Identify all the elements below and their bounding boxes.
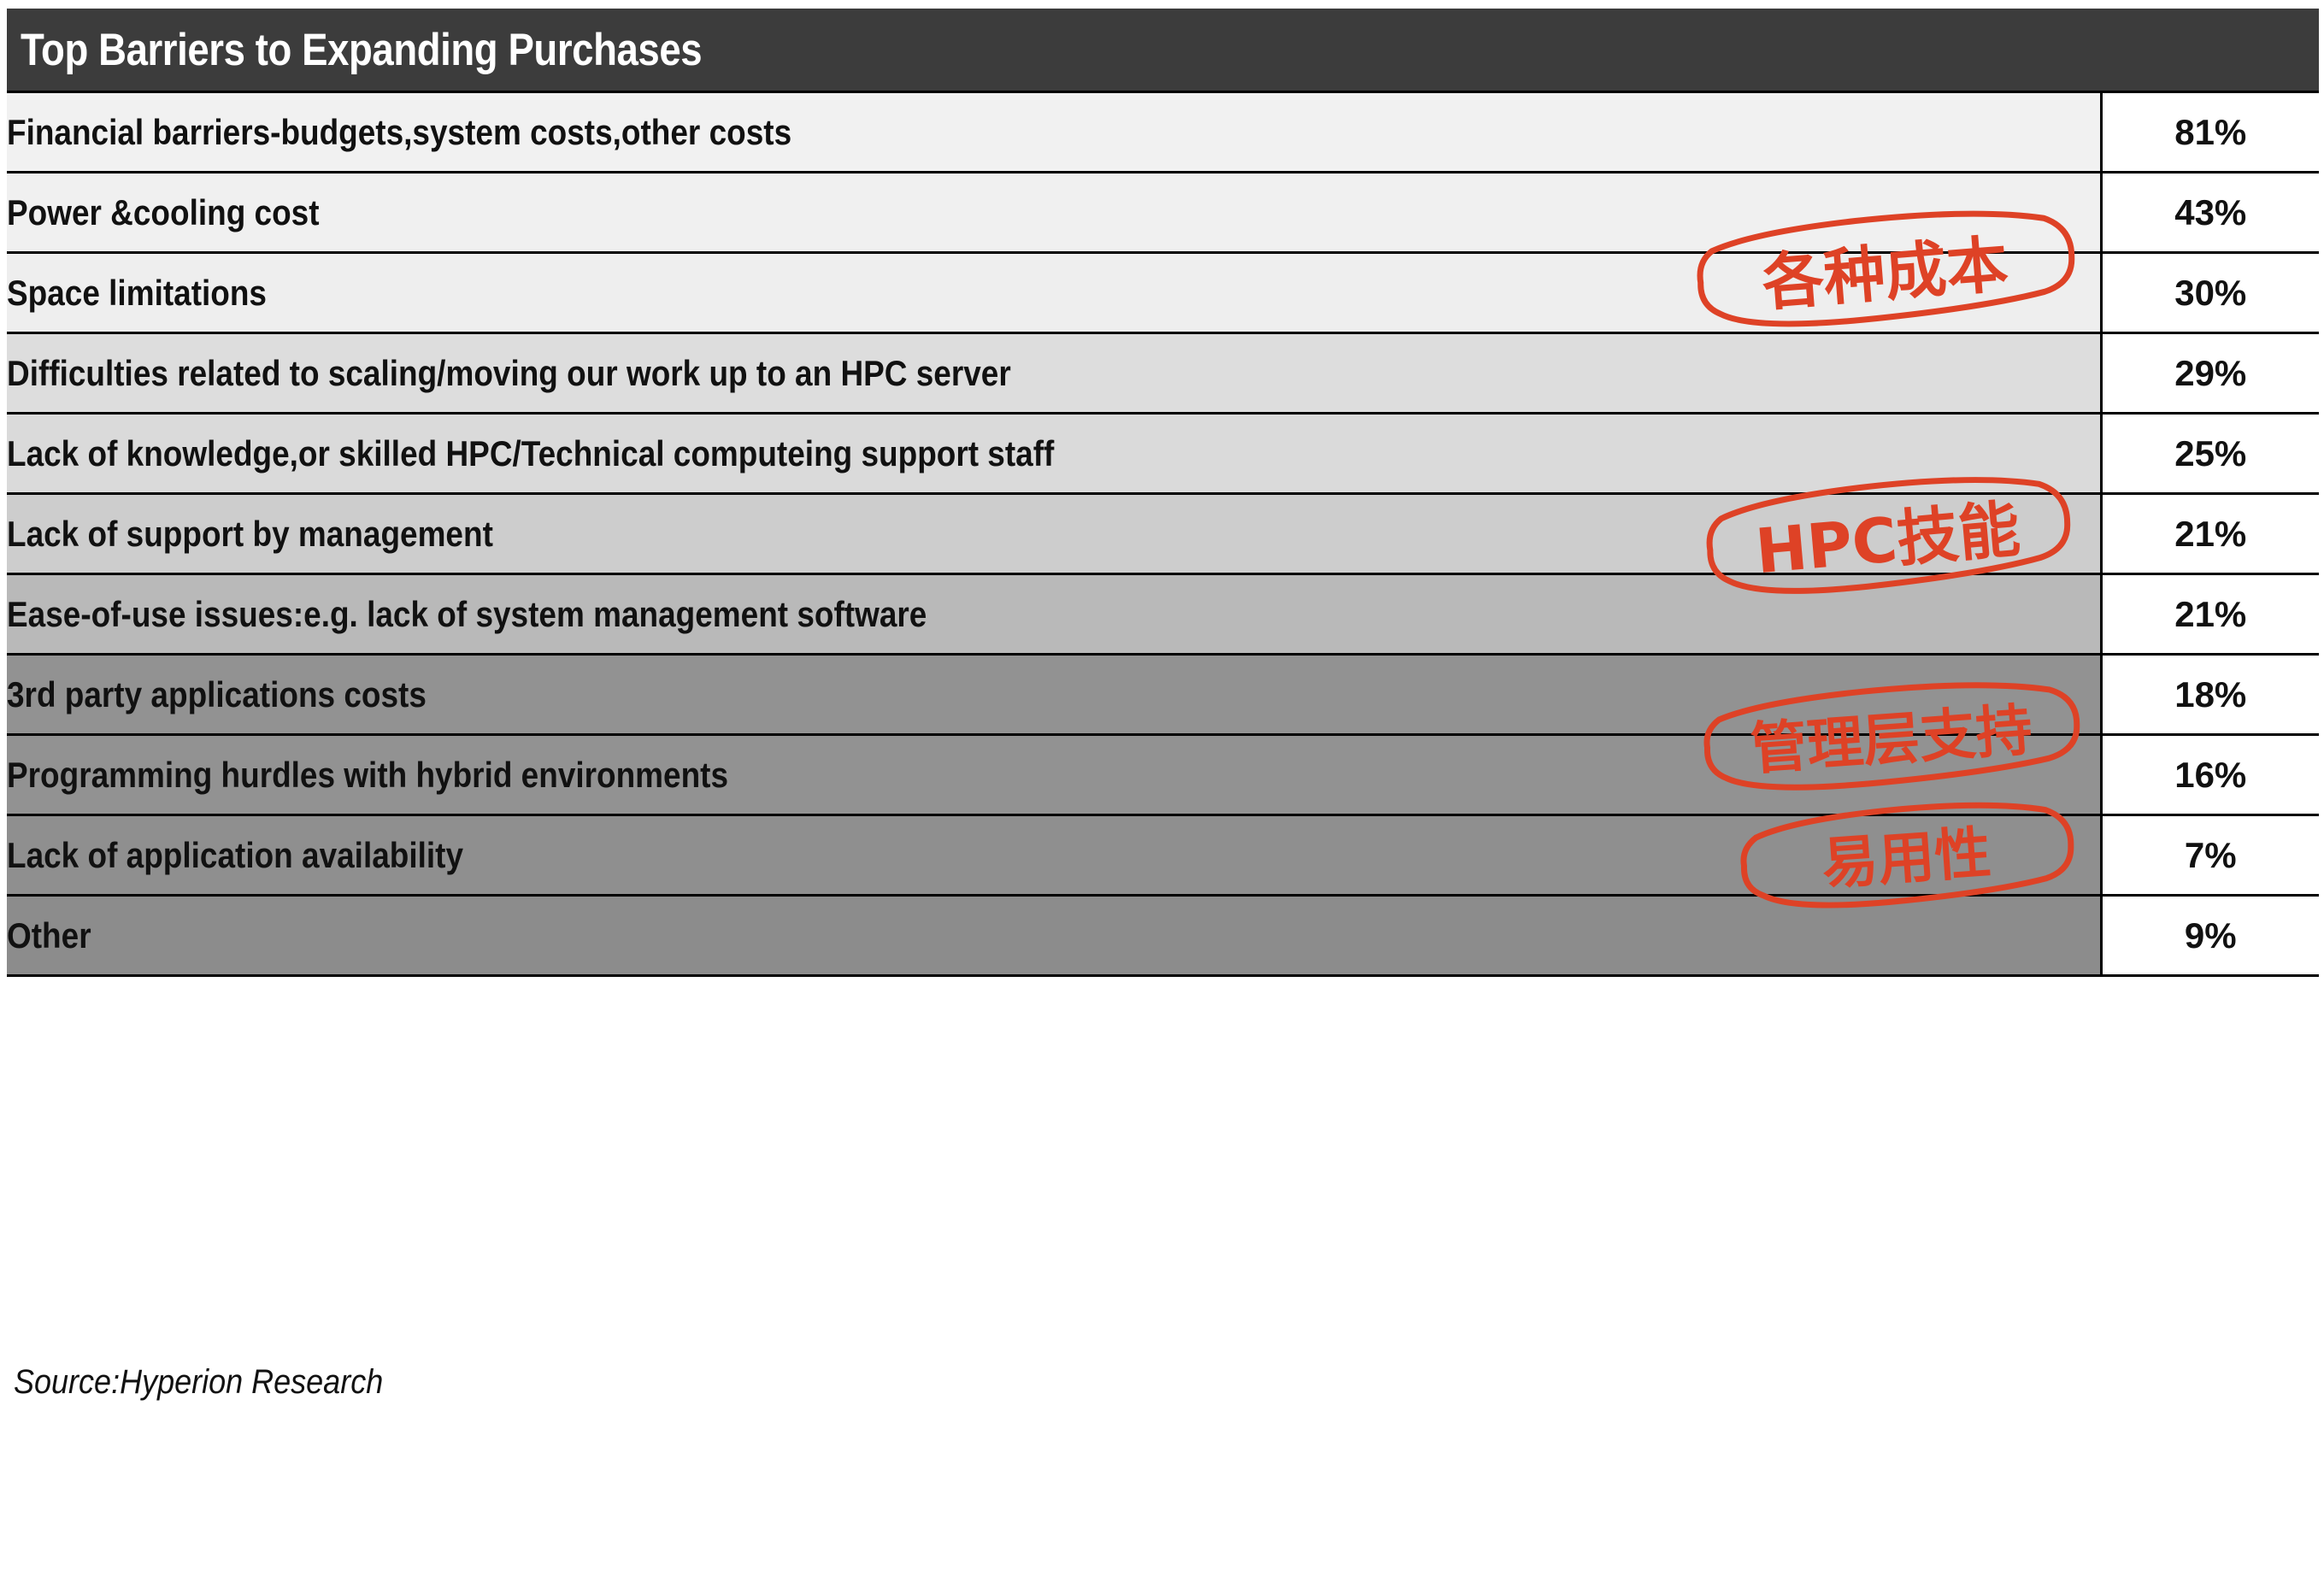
barrier-percent-cell: 30%: [2101, 253, 2319, 333]
barrier-label-cell: Financial barriers-budgets,system costs,…: [7, 92, 2101, 173]
barrier-label-cell: Lack of knowledge,or skilled HPC/Technic…: [7, 414, 2101, 494]
barrier-label: Other: [7, 915, 91, 956]
barrier-label: Difficulties related to scaling/moving o…: [7, 353, 1011, 394]
table-title-cell: Top Barriers to Expanding Purchases: [7, 9, 2319, 92]
barrier-label: 3rd party applications costs: [7, 674, 427, 715]
slide-canvas: Top Barriers to Expanding Purchases Fina…: [0, 0, 2324, 1576]
barrier-percent-cell: 7%: [2101, 815, 2319, 896]
barrier-percent-cell: 9%: [2101, 896, 2319, 976]
barrier-percent-cell: 21%: [2101, 494, 2319, 574]
barrier-label: Ease-of-use issues:e.g. lack of system m…: [7, 594, 927, 635]
barrier-percent-cell: 21%: [2101, 574, 2319, 655]
barrier-percent-cell: 81%: [2101, 92, 2319, 173]
barrier-label: Lack of support by management: [7, 514, 493, 555]
barrier-percent-cell: 25%: [2101, 414, 2319, 494]
table-row: Ease-of-use issues:e.g. lack of system m…: [7, 574, 2319, 655]
barrier-percent-cell: 29%: [2101, 333, 2319, 414]
table-title-wrap: Top Barriers to Expanding Purchases: [7, 9, 2319, 91]
page-title: Top Barriers to Expanding Purchases: [21, 24, 702, 76]
barrier-percent-cell: 18%: [2101, 655, 2319, 735]
table-title-row: Top Barriers to Expanding Purchases: [7, 9, 2319, 92]
table-row: Financial barriers-budgets,system costs,…: [7, 92, 2319, 173]
barrier-label: Space limitations: [7, 273, 267, 314]
barrier-label: Lack of application availability: [7, 835, 463, 876]
table-row: Difficulties related to scaling/moving o…: [7, 333, 2319, 414]
barrier-percent-cell: 16%: [2101, 735, 2319, 815]
barrier-percent-cell: 43%: [2101, 173, 2319, 253]
barrier-label-cell: Difficulties related to scaling/moving o…: [7, 333, 2101, 414]
table-row: Other9%: [7, 896, 2319, 976]
barrier-label: Power &cooling cost: [7, 192, 320, 233]
source-note: Source:Hyperion Research: [14, 1363, 383, 1402]
table-header: Top Barriers to Expanding Purchases: [7, 9, 2319, 92]
barrier-label: Programming hurdles with hybrid environm…: [7, 755, 728, 796]
barrier-label: Financial barriers-budgets,system costs,…: [7, 112, 791, 153]
barrier-label: Lack of knowledge,or skilled HPC/Technic…: [7, 433, 1054, 474]
